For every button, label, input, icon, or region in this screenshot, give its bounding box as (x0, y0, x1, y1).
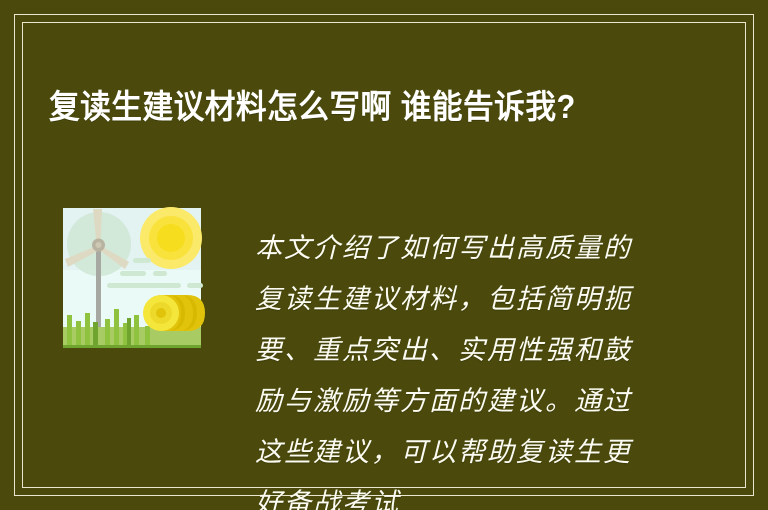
article-summary: 本文介绍了如何写出高质量的复读生建议材料，包括简明扼要、重点突出、实用性强和鼓励… (255, 223, 655, 510)
wind-farm-illustration (57, 203, 207, 358)
page-title: 复读生建议材料怎么写啊 谁能告诉我? (49, 80, 626, 133)
article-card: 复读生建议材料怎么写啊 谁能告诉我? (0, 0, 768, 510)
content-row: 本文介绍了如何写出高质量的复读生建议材料，包括简明扼要、重点突出、实用性强和鼓励… (49, 196, 728, 510)
